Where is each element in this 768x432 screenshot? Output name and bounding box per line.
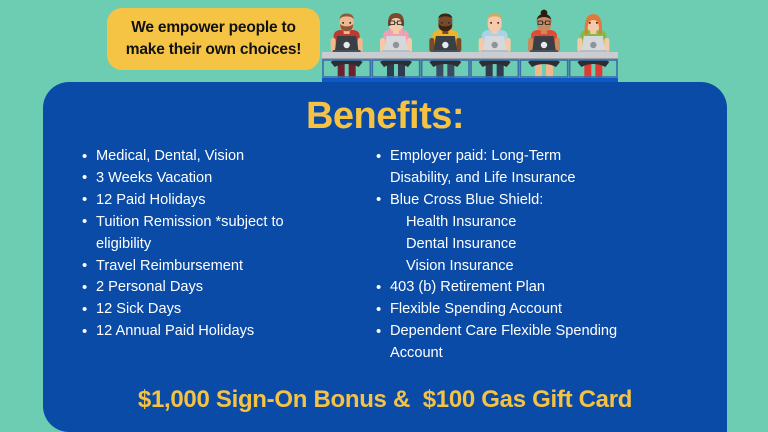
list-item: Dependent Care Flexible Spending [375, 321, 727, 342]
list-item: Blue Cross Blue Shield: [375, 190, 727, 211]
illustration-svg [322, 0, 618, 86]
sign-on-bonus-footer: $1,000 Sign-On Bonus & $100 Gas Gift Car… [43, 386, 727, 414]
page-title: Benefits: [43, 93, 727, 139]
list-item: eligibility [81, 234, 363, 255]
list-item: 403 (b) Retirement Plan [375, 277, 727, 298]
list-item: 2 Personal Days [81, 277, 363, 298]
list-item: Medical, Dental, Vision [81, 146, 363, 167]
callout-line-1: We empower people to [131, 17, 296, 39]
list-item: Health Insurance [375, 212, 727, 233]
benefits-left-list: Medical, Dental, Vision3 Weeks Vacation1… [81, 146, 363, 343]
list-item: Travel Reimbursement [81, 256, 363, 277]
list-item: Tuition Remission *subject to [81, 212, 363, 233]
list-item: 3 Weeks Vacation [81, 168, 363, 189]
list-item: Flexible Spending Account [375, 299, 727, 320]
benefits-left-column: Medical, Dental, Vision3 Weeks Vacation1… [43, 146, 363, 365]
list-item: Employer paid: Long-Term [375, 146, 727, 167]
benefits-right-list: Employer paid: Long-TermDisability, and … [375, 146, 727, 365]
benefits-columns: Medical, Dental, Vision3 Weeks Vacation1… [43, 146, 727, 365]
people-at-laptops-illustration [322, 0, 618, 86]
we-empower-people-callout: We empower people to make their own choi… [107, 8, 320, 70]
list-item: Account [375, 343, 727, 364]
list-item: 12 Paid Holidays [81, 190, 363, 211]
list-item: Dental Insurance [375, 234, 727, 255]
benefits-right-column: Employer paid: Long-TermDisability, and … [363, 146, 727, 365]
list-item: 12 Sick Days [81, 299, 363, 320]
benefits-poster: We empower people to make their own choi… [0, 0, 768, 432]
callout-line-2: make their own choices! [126, 39, 301, 61]
list-item: 12 Annual Paid Holidays [81, 321, 363, 342]
list-item: Disability, and Life Insurance [375, 168, 727, 189]
benefits-card: Benefits: Medical, Dental, Vision3 Weeks… [43, 82, 727, 432]
list-item: Vision Insurance [375, 256, 727, 277]
